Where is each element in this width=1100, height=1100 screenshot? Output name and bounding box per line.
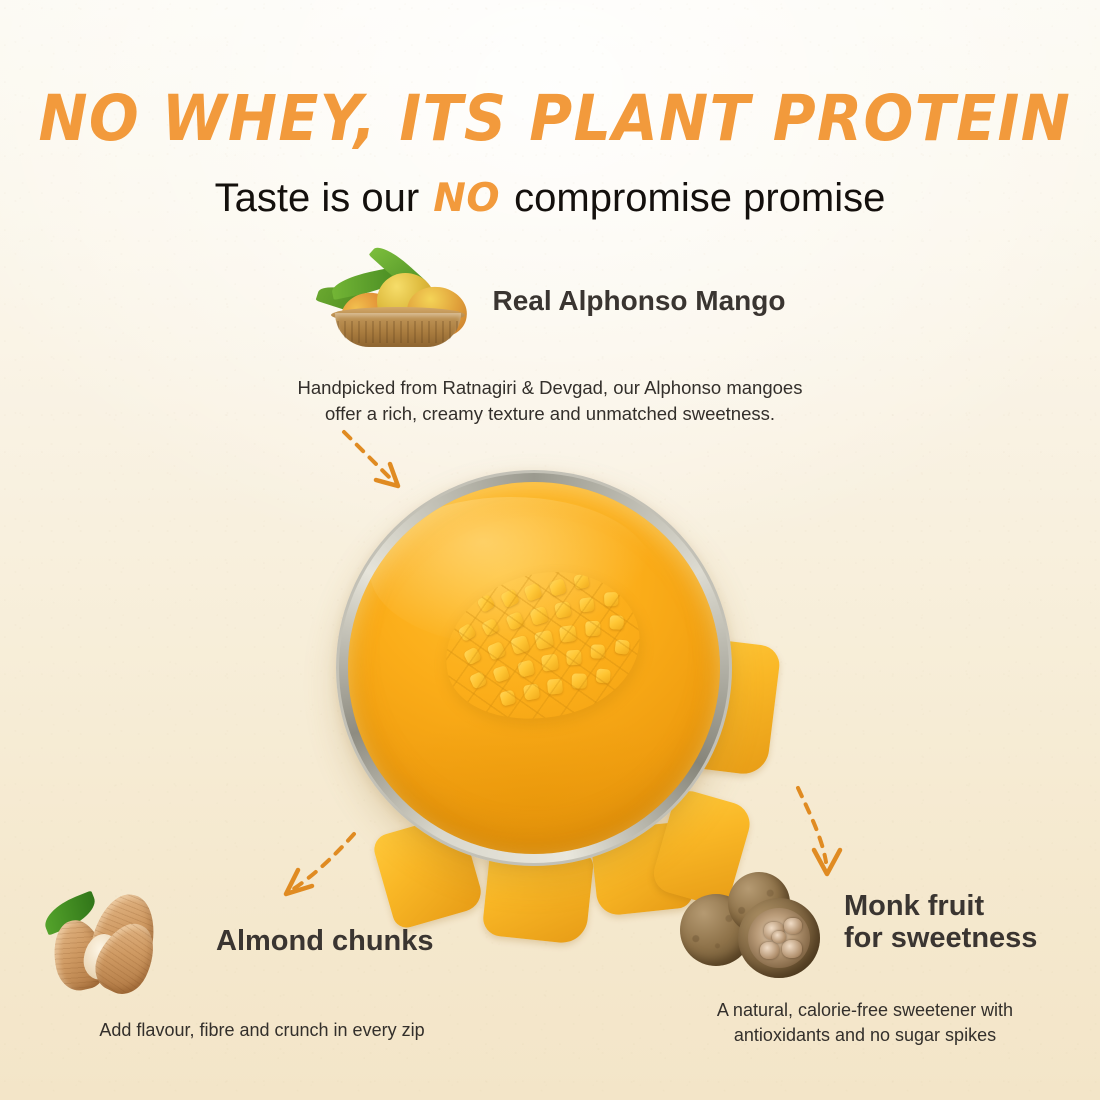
almonds-icon [42, 890, 192, 992]
feature-mango: Real Alphonso Mango Handpicked from Ratn… [0, 255, 1100, 426]
page-title: NO WHEY, ITS PLANT PROTEIN [39, 82, 1062, 155]
feature-monkfruit-description: A natural, calorie-free sweetener with a… [680, 998, 1050, 1048]
subtitle-text-after: compromise promise [503, 176, 885, 220]
subtitle-accent-word: NO [430, 176, 503, 221]
feature-almond-title: Almond chunks [216, 925, 434, 957]
monk-fruit-seed [784, 918, 802, 934]
hero-bowl-of-mango-puree [336, 466, 736, 884]
poster-stage: NO WHEY, ITS PLANT PROTEIN Taste is our … [0, 0, 1100, 1100]
feature-mango-title: Real Alphonso Mango [493, 285, 786, 316]
monk-fruit-seed [760, 942, 779, 959]
mango-puree [348, 482, 720, 854]
feature-monkfruit-title-line1: Monk fruit [844, 890, 1037, 922]
monk-fruit-seed [782, 940, 802, 958]
feature-monkfruit-title: Monk fruit for sweetness [844, 890, 1037, 955]
subtitle-text-before: Taste is our [215, 176, 431, 220]
mango-basket-icon [315, 255, 475, 347]
glass-bowl [336, 470, 732, 866]
monk-fruit-seed [772, 931, 786, 943]
feature-almond: Almond chunks Add flavour, fibre and cru… [42, 890, 502, 1043]
feature-mango-description: Handpicked from Ratnagiri & Devgad, our … [290, 375, 810, 426]
feature-monkfruit-title-line2: for sweetness [844, 922, 1037, 954]
monk-fruit-icon [680, 868, 830, 976]
feature-monkfruit: Monk fruit for sweetness A natural, calo… [680, 868, 1080, 1048]
page-subtitle: Taste is our NO compromise promise [0, 176, 1100, 221]
feature-almond-description: Add flavour, fibre and crunch in every z… [42, 1018, 482, 1043]
